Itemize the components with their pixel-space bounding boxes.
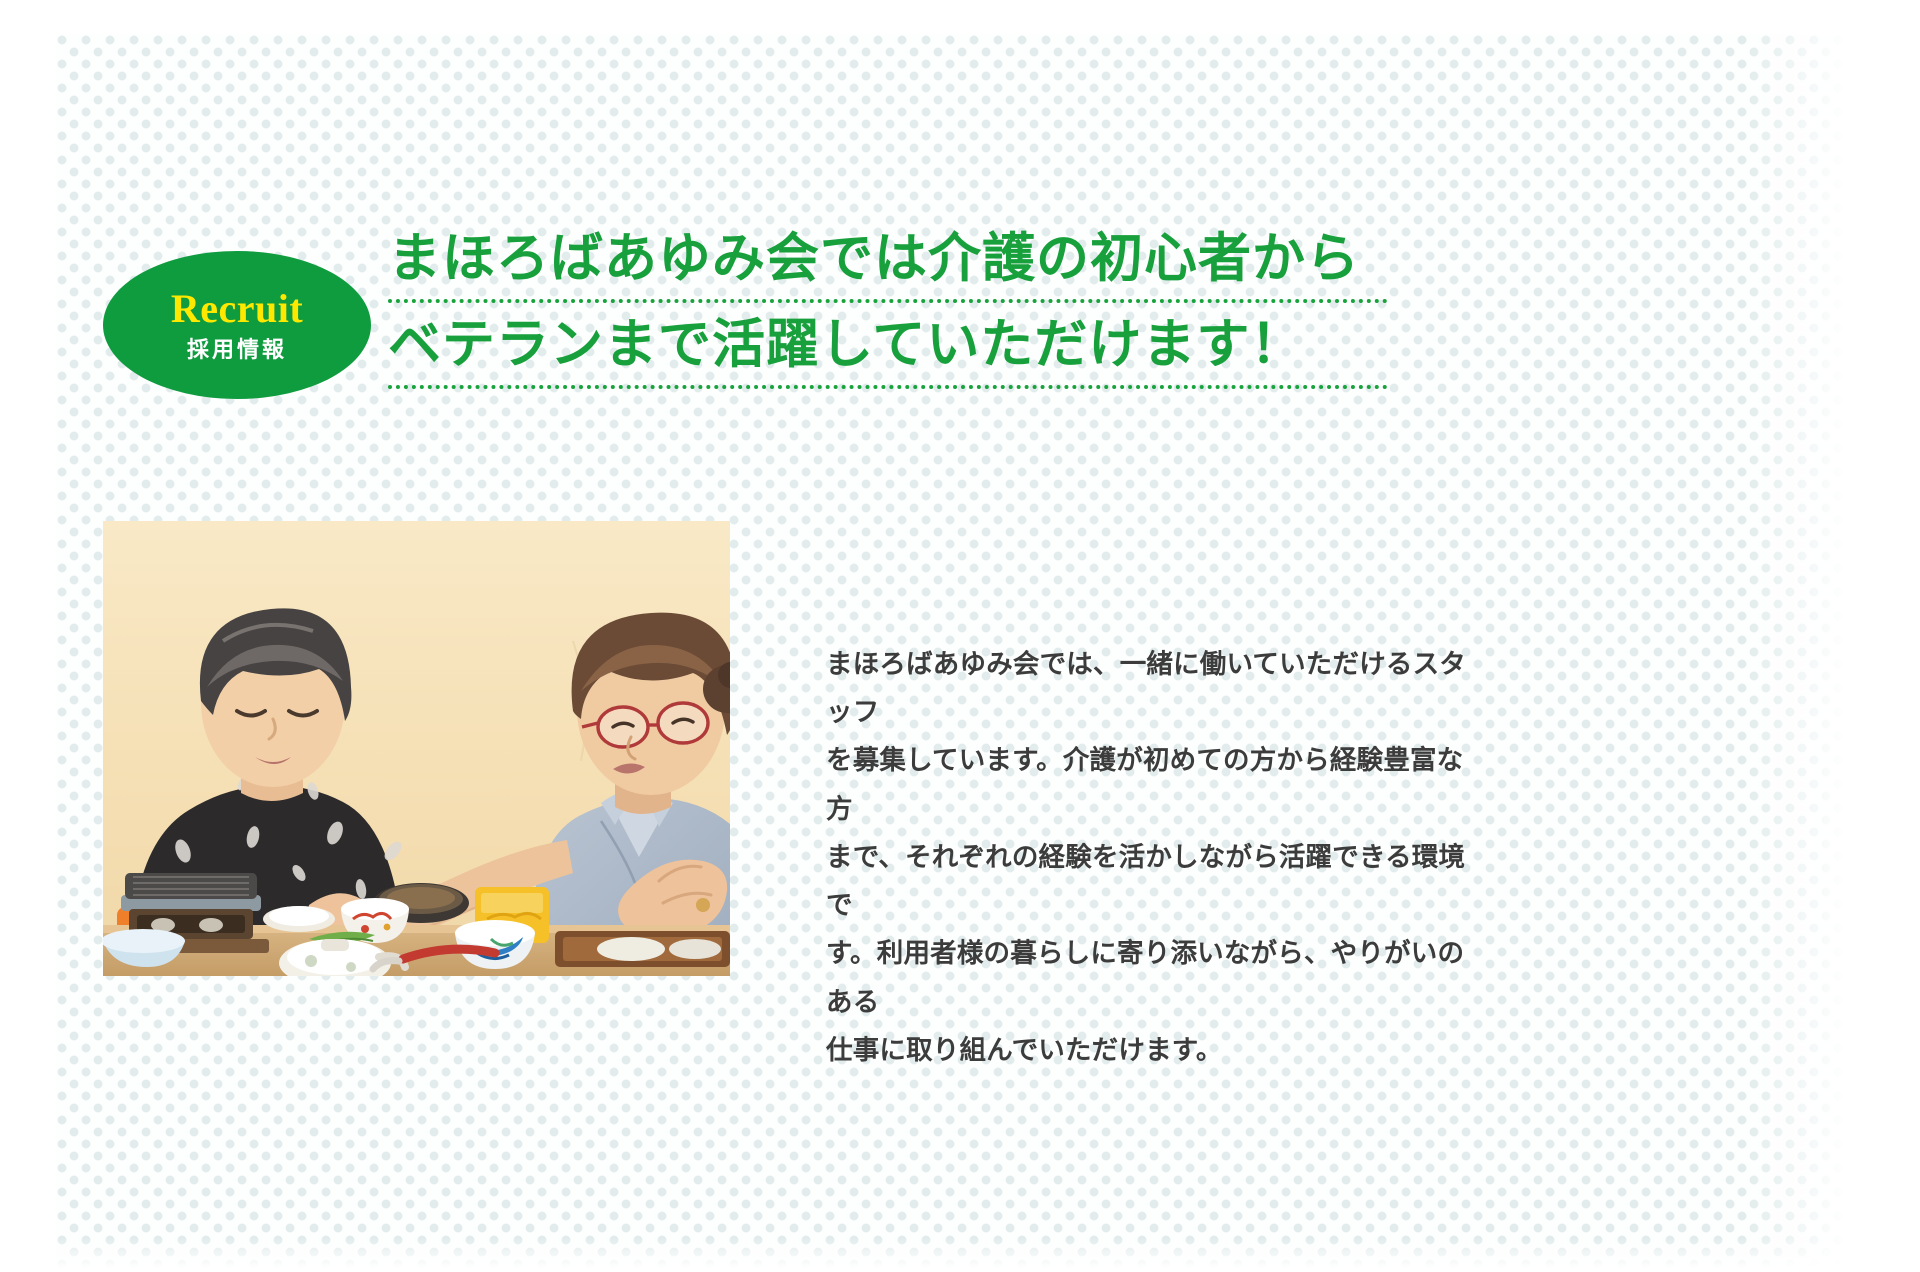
- recruit-body-copy: まほろばあゆみ会では、一緒に働いていただけるスタッフ を募集しています。介護が初…: [826, 640, 1486, 1074]
- headline-line-1: まほろばあゆみ会では介護の初心者から: [388, 232, 1388, 303]
- body-copy-line-5: 仕事に取り組んでいただけます。: [826, 1026, 1486, 1074]
- recruit-badge-english-label: Recruit: [171, 289, 303, 329]
- recruit-badge-japanese-label: 採用情報: [187, 339, 287, 361]
- section-header: Recruit 採用情報 まほろばあゆみ会では介護の初心者から ベテランまで活躍…: [0, 0, 1920, 470]
- body-copy-line-4: す。利用者様の暮らしに寄り添いながら、やりがいのある: [826, 929, 1486, 1025]
- headline-line-2: ベテランまで活躍していただけます！: [388, 318, 1388, 389]
- recruit-section: Recruit 採用情報 まほろばあゆみ会では介護の初心者から ベテランまで活躍…: [0, 0, 1920, 1272]
- body-copy-line-2: を募集しています。介護が初めての方から経験豊富な方: [826, 736, 1486, 832]
- recruit-photo: [103, 521, 730, 976]
- recruit-badge: Recruit 採用情報: [103, 251, 371, 399]
- body-copy-line-3: まで、それぞれの経験を活かしながら活躍できる環境で: [826, 833, 1486, 929]
- section-headline: まほろばあゆみ会では介護の初心者から ベテランまで活躍していただけます！: [388, 232, 1388, 389]
- pattern-fade-bottom: [56, 1238, 1864, 1272]
- body-copy-line-1: まほろばあゆみ会では、一緒に働いていただけるスタッフ: [826, 640, 1486, 736]
